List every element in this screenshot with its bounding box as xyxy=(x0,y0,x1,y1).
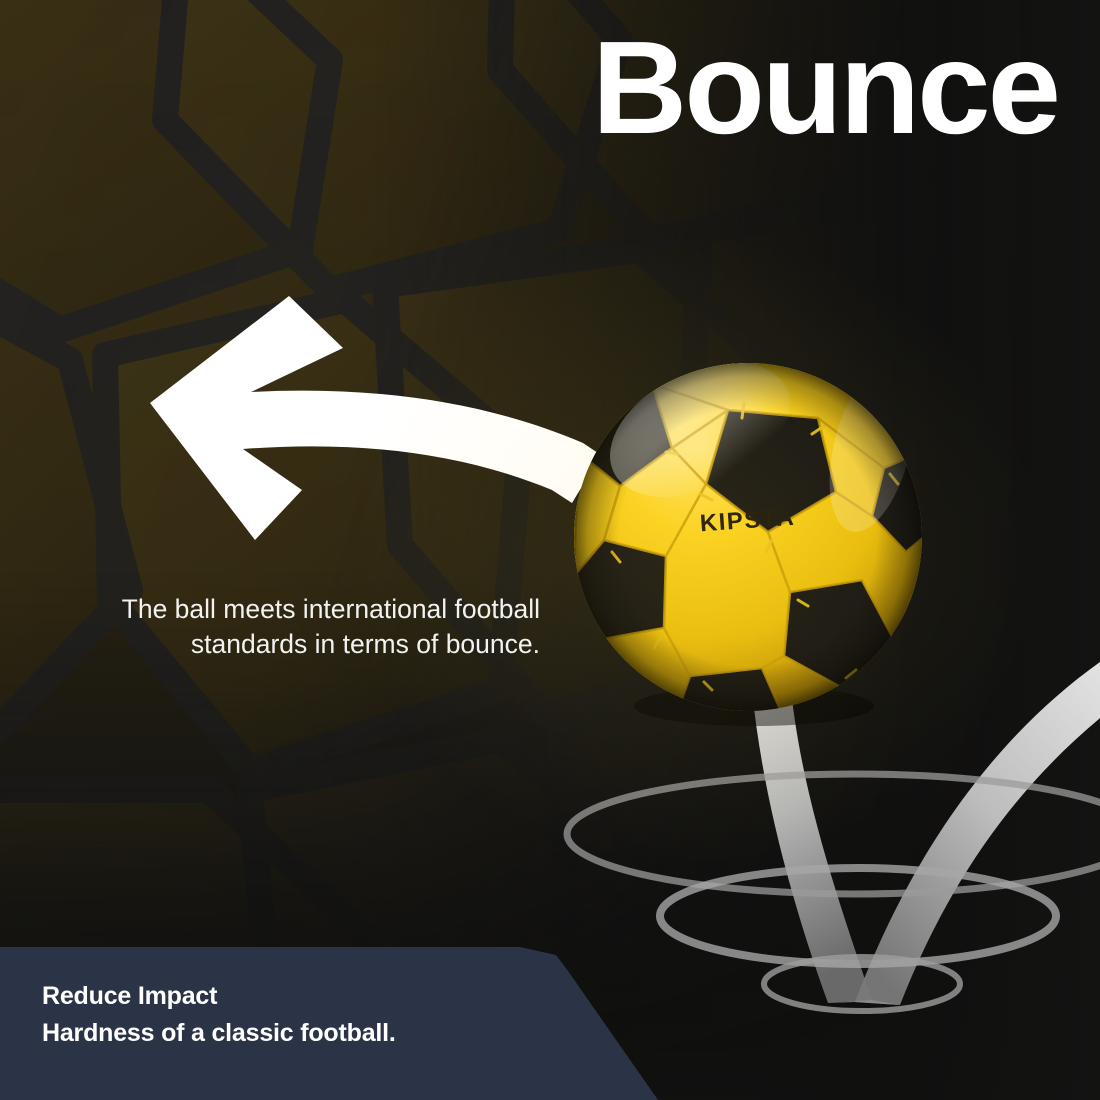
banner-heading: Reduce Impact xyxy=(42,978,396,1015)
description-line-1: The ball meets international football xyxy=(20,592,540,627)
banner-subheading: Hardness of a classic football. xyxy=(42,1015,396,1052)
description-line-2: standards in terms of bounce. xyxy=(20,627,540,662)
banner-text-block: Reduce Impact Hardness of a classic foot… xyxy=(42,978,396,1052)
description-text: The ball meets international football st… xyxy=(20,592,540,662)
soccer-ball-icon: KIPSTA xyxy=(0,0,1100,1100)
page-title: Bounce xyxy=(592,22,1058,154)
poster-canvas: KIPSTA Bounce The ball meets internation… xyxy=(0,0,1100,1100)
